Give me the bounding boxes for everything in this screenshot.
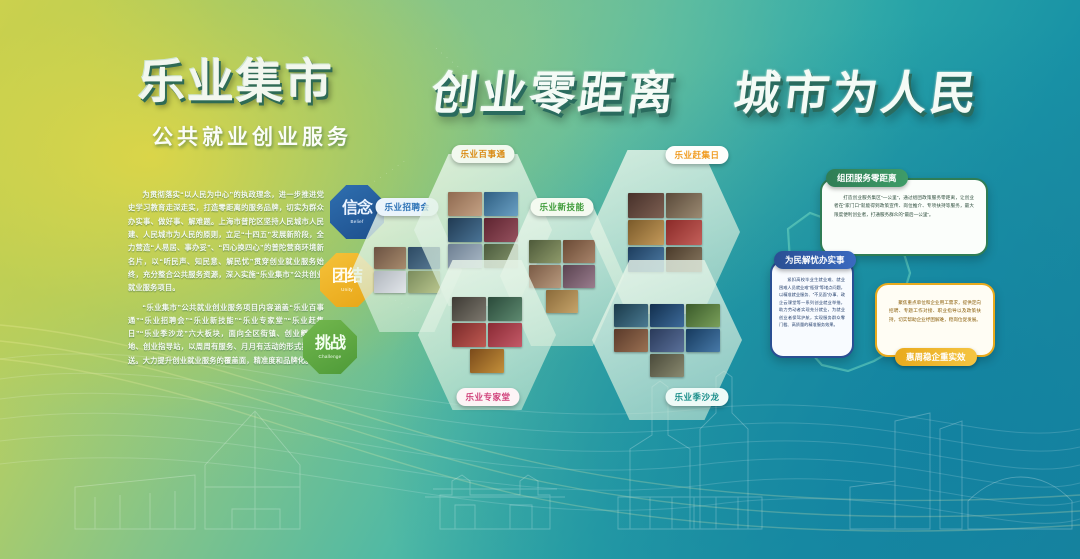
- photo-thumb: [529, 265, 561, 288]
- hex-label-newskills[interactable]: 乐业新技能: [530, 198, 593, 216]
- photo-thumb: [686, 304, 720, 327]
- hex-label-experthall[interactable]: 乐业专家堂: [456, 388, 519, 406]
- badge-label-cn: 挑战: [315, 336, 345, 352]
- photo-thumb: [628, 220, 664, 245]
- badge-label-en: Challenge: [319, 354, 342, 359]
- callout-body: 聚焦重点单位和企业用工需求，提供定向招聘、专题工作对接、职业指导以及政策扶持，切…: [877, 285, 993, 334]
- logo-title: 乐业集市: [138, 58, 368, 105]
- intro-paragraph-2: “乐业集市”公共就业创业服务项目内容涵盖“乐业百事通”“乐业招聘会”“乐业新技能…: [128, 301, 324, 368]
- callout-body: 紧扣高校毕业生就业难、就业困难人员就业难“瓶颈”等堵点问题，以精准就业服务、“不…: [772, 262, 852, 335]
- photo-thumb: [650, 304, 684, 327]
- value-badge-challenge: 挑战 Challenge: [303, 320, 357, 374]
- hex-label-infohub[interactable]: 乐业百事通: [451, 145, 514, 163]
- hex-label-marketday[interactable]: 乐业赶集日: [665, 146, 728, 164]
- photo-thumb: [529, 240, 561, 263]
- photo-thumb: [452, 323, 486, 347]
- headline-right: 城市为人民: [731, 67, 982, 119]
- photo-thumb: [546, 290, 578, 313]
- photo-thumb: [563, 265, 595, 288]
- callout-title: 为民解忧办实事: [774, 251, 856, 269]
- photo-thumb: [470, 349, 504, 373]
- photo-thumb: [686, 329, 720, 352]
- hex-label-salon[interactable]: 乐业季沙龙: [665, 388, 728, 406]
- photo-thumb: [374, 271, 406, 293]
- logo-subtitle: 公共就业创业服务: [152, 121, 368, 151]
- photo-thumb: [650, 354, 684, 377]
- photo-thumb: [452, 297, 486, 321]
- page-title: 创业零距离 城市为人民: [428, 57, 984, 123]
- photo-thumb: [374, 247, 406, 269]
- photo-thumb: [488, 323, 522, 347]
- photo-thumb: [666, 193, 702, 218]
- callout-body: 打造创业服务集区“一公里”，通过组团政策服务零距离，让创业者在“家门口”就能得到…: [822, 180, 986, 229]
- photo-thumb: [563, 240, 595, 263]
- photo-thumb: [448, 218, 482, 242]
- photo-thumb: [628, 193, 664, 218]
- callout-card-serve-people[interactable]: 为民解忧办实事 紧扣高校毕业生就业难、就业困难人员就业难“瓶颈”等堵点问题，以精…: [770, 260, 854, 358]
- callout-title: 组团服务零距离: [826, 169, 908, 187]
- photo-thumb: [666, 220, 702, 245]
- photo-thumb: [650, 329, 684, 352]
- intro-paragraph-1: 为贯彻落实“以人民为中心”的执政理念，进一步推进党史学习教育走深走实，打造零距离…: [128, 188, 324, 295]
- photo-thumb: [614, 329, 648, 352]
- callout-card-zero-distance[interactable]: 组团服务零距离 打造创业服务集区“一公里”，通过组团政策服务零距离，让创业者在“…: [820, 178, 988, 256]
- photo-thumb: [484, 218, 518, 242]
- module-hexagon-cluster: 乐业招聘会 乐业百事通 乐业新技能: [352, 150, 792, 410]
- photo-thumb: [614, 304, 648, 327]
- intro-text-panel: 为贯彻落实“以人民为中心”的执政理念，进一步推进党史学习教育走深走实，打造零距离…: [128, 188, 324, 373]
- photo-thumb: [448, 192, 482, 216]
- photo-thumb: [484, 192, 518, 216]
- photo-thumb: [488, 297, 522, 321]
- callout-title: 惠周稳企重实效: [895, 348, 977, 366]
- brand-logo: 乐业集市 公共就业创业服务: [138, 58, 368, 151]
- headline-left: 创业零距离: [428, 67, 679, 119]
- callout-card-stabilize-firms[interactable]: 惠周稳企重实效 聚焦重点单位和企业用工需求，提供定向招聘、专题工作对接、职业指导…: [875, 283, 995, 357]
